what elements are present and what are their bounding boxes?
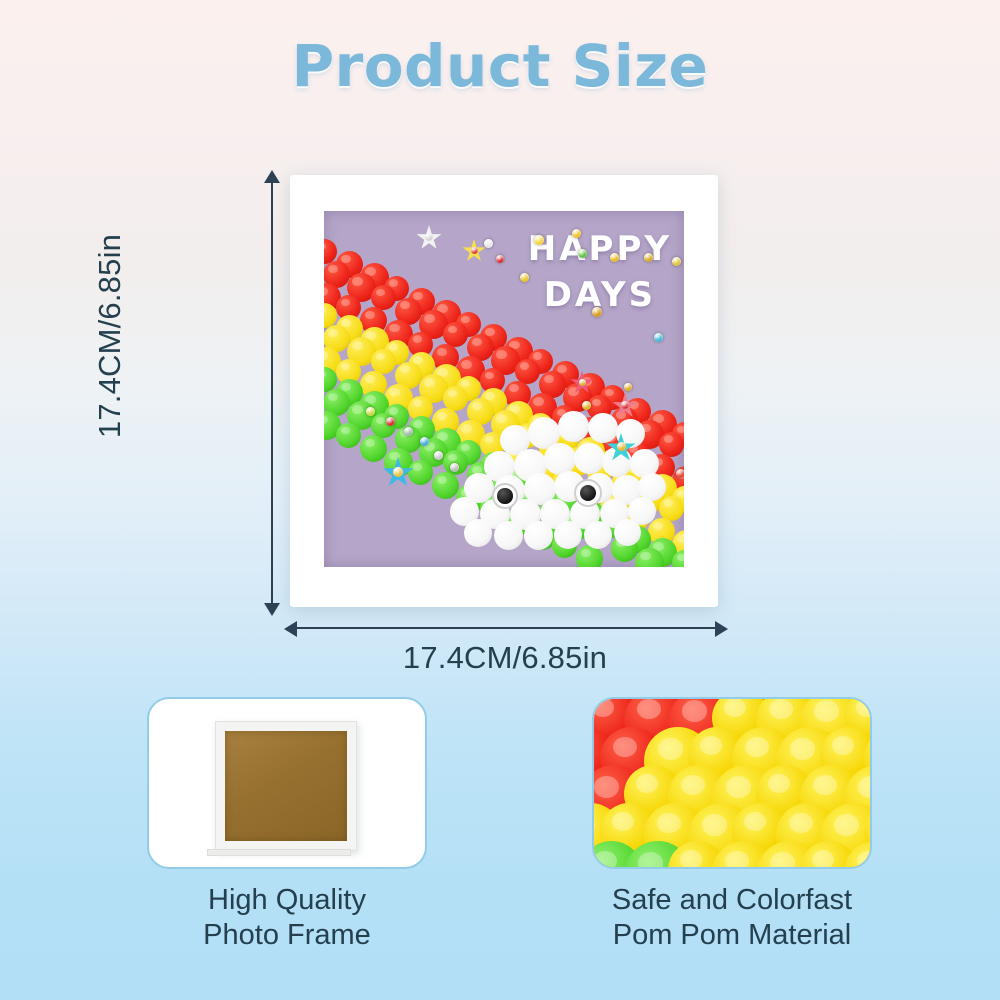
height-arrow-top-icon xyxy=(264,170,280,183)
pom-pom xyxy=(464,519,492,547)
feature-caption-right-line-1: Safe and Colorfast xyxy=(592,883,872,918)
feature-card-image-frame-back xyxy=(147,697,427,869)
star-sticker-gem xyxy=(617,442,626,451)
feature-photo-frame: High Quality Photo Frame xyxy=(147,697,427,953)
pom-pom xyxy=(574,443,605,474)
frame-stand-foot xyxy=(207,849,351,856)
gem-sticker xyxy=(610,253,619,262)
pom-pom xyxy=(360,435,387,462)
star-sticker-gem xyxy=(425,233,433,241)
height-dimension-label: 17.4CM/6.85in xyxy=(92,206,128,466)
width-dimension-line xyxy=(292,627,720,629)
gem-sticker xyxy=(496,255,504,263)
feature-caption-left-line-1: High Quality xyxy=(147,883,427,918)
feature-card-image-pom-macro xyxy=(592,697,872,869)
pom-pom xyxy=(432,472,459,499)
pom-pom xyxy=(659,432,684,457)
star-sticker-gem xyxy=(393,467,403,477)
slogan-line-1: HAPPY xyxy=(528,227,672,273)
star-sticker-gem xyxy=(621,401,629,409)
googly-eye xyxy=(574,479,602,507)
pom-pom xyxy=(558,411,589,442)
gem-sticker xyxy=(450,463,459,472)
gem-sticker xyxy=(420,437,429,446)
star-sticker-gem xyxy=(471,247,478,254)
pom-pom xyxy=(336,423,361,448)
feature-pom-pom-material: Safe and Colorfast Pom Pom Material xyxy=(592,697,872,953)
pom-pom xyxy=(584,521,612,549)
width-dimension-label: 17.4CM/6.85in xyxy=(290,640,720,676)
gem-sticker xyxy=(654,333,663,342)
gem-sticker xyxy=(676,469,684,478)
product-photo-framed-artwork: HAPPY DAYS xyxy=(290,175,718,607)
width-arrow-right-icon xyxy=(715,621,728,637)
gem-sticker xyxy=(578,249,587,258)
height-arrow-bottom-icon xyxy=(264,603,280,616)
height-dimension-line xyxy=(271,178,273,608)
feature-caption-left: High Quality Photo Frame xyxy=(147,883,427,953)
pom-pom xyxy=(554,521,582,549)
gem-sticker xyxy=(534,235,544,245)
pom-pom xyxy=(614,519,641,546)
pom-pom xyxy=(588,413,618,443)
gem-sticker xyxy=(624,383,632,391)
gem-sticker xyxy=(484,239,493,248)
gem-sticker xyxy=(572,229,581,238)
pom-pom xyxy=(494,521,523,550)
gem-sticker xyxy=(644,253,653,262)
artwork-canvas: HAPPY DAYS xyxy=(324,211,684,567)
gem-sticker xyxy=(520,273,529,282)
feature-caption-right-line-2: Pom Pom Material xyxy=(592,918,872,953)
width-arrow-left-icon xyxy=(284,621,297,637)
gem-sticker xyxy=(386,417,395,426)
googly-eye xyxy=(492,483,518,509)
gem-sticker xyxy=(366,407,375,416)
gem-sticker xyxy=(434,451,443,460)
page-title: Product Size xyxy=(0,32,1000,100)
gem-sticker xyxy=(582,401,591,410)
product-size-infographic: Product Size 17.4CM/6.85in 17.4CM/6.85in… xyxy=(0,0,1000,1000)
feature-caption-right: Safe and Colorfast Pom Pom Material xyxy=(592,883,872,953)
pom-pom xyxy=(524,521,553,550)
gem-sticker xyxy=(404,427,413,436)
pom-pom-closeup xyxy=(594,699,870,867)
artwork-slogan: HAPPY DAYS xyxy=(528,227,672,319)
frame-backing-board xyxy=(225,731,347,841)
star-sticker-gem xyxy=(579,379,586,386)
feature-caption-left-line-2: Photo Frame xyxy=(147,918,427,953)
pom-pom xyxy=(408,460,433,485)
gem-sticker xyxy=(672,257,681,266)
gem-sticker xyxy=(592,307,602,317)
frame-back-view xyxy=(215,721,357,851)
pom-pom xyxy=(659,496,684,521)
pom-pom xyxy=(515,359,540,384)
